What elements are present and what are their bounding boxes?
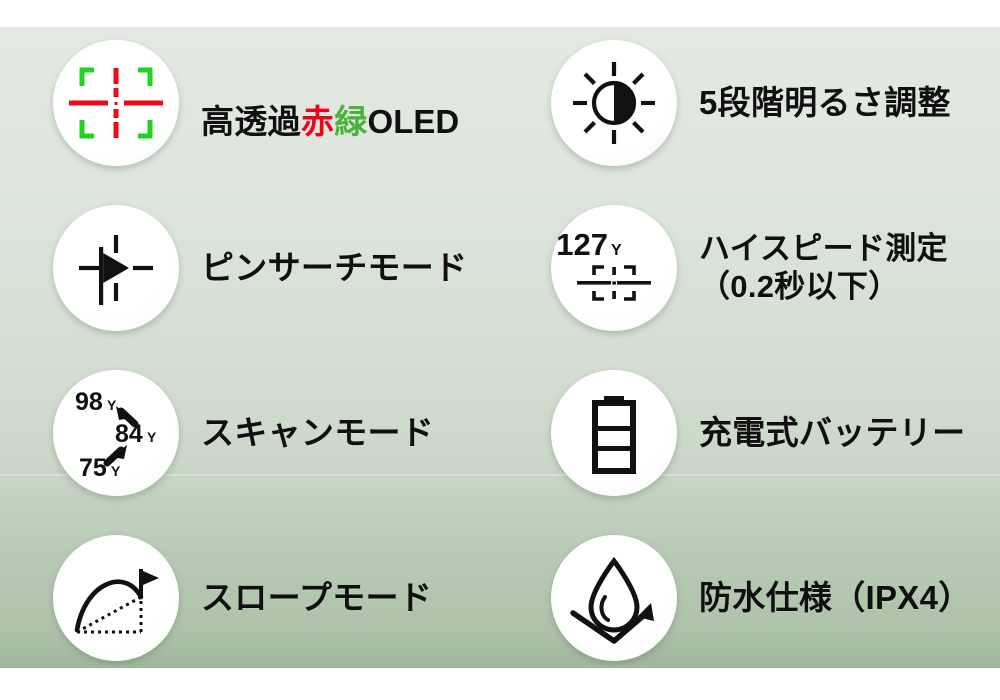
label-segment-oled: OLED	[368, 103, 460, 140]
scan-reading-2-value: 84	[115, 420, 143, 448]
label-segment-black-1: 高透過	[201, 103, 301, 140]
scan-reading-3-value: 75	[79, 454, 107, 482]
feature-label-waterproof-ipx4: 防水仕様（IPX4）	[699, 579, 972, 618]
scan-distances-arrows-icon: 98 Y 84 Y 75 Y	[53, 370, 179, 496]
feature-item-waterproof-ipx4[interactable]: 防水仕様（IPX4）	[551, 535, 972, 661]
feature-grid: 高透過赤緑OLED	[0, 0, 1000, 700]
feature-label-high-transmission-oled: 高透過赤緑OLED	[201, 64, 459, 141]
pin-flag-crosshair-icon	[53, 205, 179, 331]
feature-label-rechargeable-battery: 充電式バッテリー	[699, 414, 965, 453]
brightness-sun-icon	[551, 40, 677, 166]
slope-trajectory-flag-icon	[53, 535, 179, 661]
feature-item-scan-mode[interactable]: 98 Y 84 Y 75 Y	[53, 370, 434, 496]
feature-item-slope-mode[interactable]: スロープモード	[53, 535, 432, 661]
feature-label-scan-mode: スキャンモード	[201, 414, 434, 453]
feature-label-high-speed-measurement: ハイスピード測定 （0.2秒以下）	[699, 230, 948, 306]
scan-reading-1-value: 98	[75, 388, 103, 416]
scan-reading-2-unit: Y	[147, 429, 157, 445]
feature-board: 高透過赤緑OLED	[0, 0, 1000, 700]
battery-icon	[551, 370, 677, 496]
feature-label-slope-mode: スロープモード	[201, 579, 432, 618]
icon-distance-unit: Y	[611, 242, 622, 259]
feature-item-high-speed-measurement[interactable]: 127 Y ハイスピード測定 （0.2秒以下）	[551, 205, 948, 331]
feature-label-pin-search-mode: ピンサーチモード	[201, 249, 467, 288]
scan-reading-3-unit: Y	[111, 463, 121, 479]
icon-distance-value: 127	[556, 227, 608, 262]
feature-item-brightness-5-levels[interactable]: 5段階明るさ調整	[551, 40, 951, 166]
water-drop-repel-icon	[551, 535, 677, 661]
label-segment-green: 緑	[334, 103, 367, 140]
distance-readout-reticle-icon: 127 Y	[551, 205, 677, 331]
feature-item-high-transmission-oled[interactable]: 高透過赤緑OLED	[53, 40, 459, 166]
feature-item-rechargeable-battery[interactable]: 充電式バッテリー	[551, 370, 965, 496]
label-segment-red: 赤	[301, 103, 334, 140]
scan-reading-1-unit: Y	[107, 397, 117, 413]
feature-item-pin-search-mode[interactable]: ピンサーチモード	[53, 205, 467, 331]
feature-label-brightness-5-levels: 5段階明るさ調整	[699, 84, 951, 123]
reticle-red-green-icon	[53, 40, 179, 166]
